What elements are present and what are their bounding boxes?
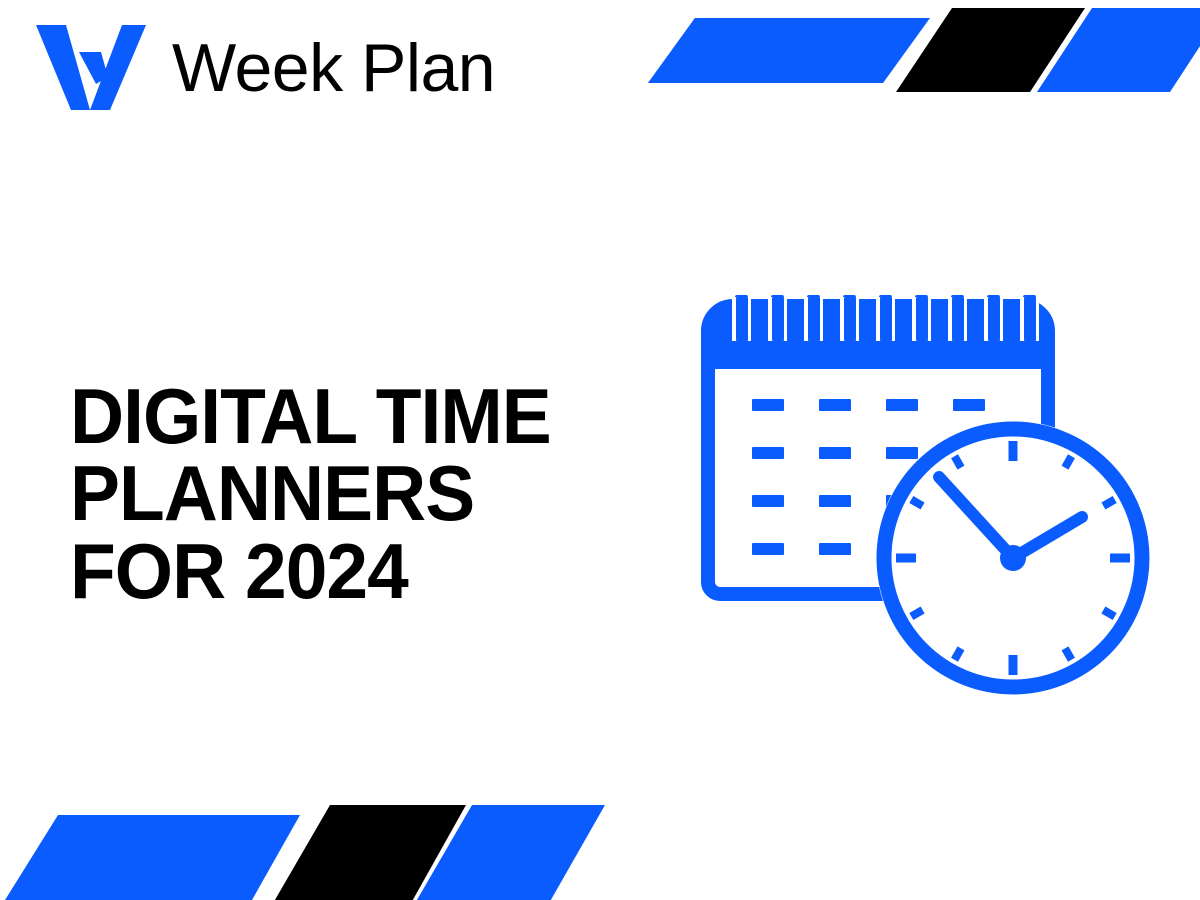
calendar-binding-rings-front [736, 297, 1036, 341]
bottom-stripe-blue-right [414, 805, 605, 900]
headline-line-1: DIGITAL TIME [70, 378, 646, 455]
bottom-stripe-blue-wide [5, 815, 300, 900]
headline-line-3: FOR 2024 [70, 533, 646, 610]
poster-canvas: Week Plan DIGITAL TIME PLANNERS FOR 2024 [0, 0, 1200, 900]
headline-line-2: PLANNERS [70, 455, 646, 532]
clock-center-dot [1000, 545, 1026, 571]
page-title: DIGITAL TIME PLANNERS FOR 2024 [70, 378, 646, 610]
brand-lockup: Week Plan [28, 22, 495, 114]
top-stripe-black [896, 8, 1085, 92]
top-stripe-blue-wide-c [648, 18, 930, 83]
bottom-stripe-banner [0, 800, 620, 900]
brand-name: Week Plan [172, 34, 495, 102]
bottom-stripe-black [272, 805, 466, 900]
top-stripe-banner [640, 0, 1200, 110]
top-stripe-blue-wide-b [792, 18, 928, 83]
top-stripe-blue-right [1037, 8, 1200, 92]
calendar-clock-illustration [690, 285, 1160, 700]
week-plan-w-logo-icon [28, 22, 150, 114]
clock-icon [876, 421, 1150, 695]
top-stripe-blue-wide [648, 18, 925, 83]
